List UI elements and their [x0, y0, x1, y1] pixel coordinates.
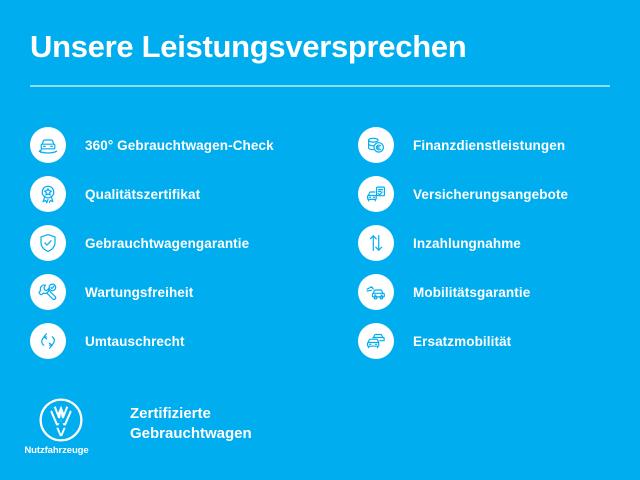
brand-tagline-line2: Gebrauchtwagen: [130, 424, 252, 444]
promo-slide: Unsere Leistungsversprechen 360° Gebrauc…: [0, 0, 640, 480]
page-title: Unsere Leistungsversprechen: [30, 29, 466, 65]
wrench-check-icon: [30, 274, 66, 310]
car-check-360-icon: [30, 127, 66, 163]
feature-label: Umtauschrecht: [85, 334, 185, 349]
feature-item: Umtauschrecht: [30, 317, 320, 365]
feature-label: Wartungsfreiheit: [85, 285, 193, 300]
feature-label: Ersatzmobilität: [413, 334, 511, 349]
feature-item: Wartungsfreiheit: [30, 268, 320, 316]
up-down-arrows-icon: [358, 225, 394, 261]
coins-euro-icon: [358, 127, 394, 163]
feature-label: Mobilitätsgarantie: [413, 285, 530, 300]
brand-tagline-line1: Zertifizierte: [130, 404, 252, 424]
two-cars-icon: [358, 323, 394, 359]
feature-item: Mobilitätsgarantie: [358, 268, 640, 316]
feature-label: 360° Gebrauchtwagen-Check: [85, 138, 274, 153]
brand-tagline: Zertifizierte Gebrauchtwagen: [130, 404, 252, 444]
feature-item: Inzahlungnahme: [358, 219, 640, 267]
car-document-check-icon: [358, 176, 394, 212]
exchange-arrows-icon: [30, 323, 66, 359]
feature-label: Inzahlungnahme: [413, 236, 521, 251]
feature-column-left: 360° Gebrauchtwagen-Check Qualitätszerti…: [30, 121, 320, 366]
feature-item: Qualitätszertifikat: [30, 170, 320, 218]
title-divider: [30, 85, 610, 87]
feature-item: Versicherungsangebote: [358, 170, 640, 218]
tow-truck-icon: [358, 274, 394, 310]
feature-item: Finanzdienstleistungen: [358, 121, 640, 169]
feature-label: Qualitätszertifikat: [85, 187, 200, 202]
shield-check-icon: [30, 225, 66, 261]
feature-column-right: Finanzdienstleistungen Versicherungsange…: [358, 121, 640, 366]
feature-item: Ersatzmobilität: [358, 317, 640, 365]
feature-item: Gebrauchtwagengarantie: [30, 219, 320, 267]
feature-label: Gebrauchtwagengarantie: [85, 236, 249, 251]
vw-roundel-logo: [39, 398, 83, 442]
brand-block: Nutzfahrzeuge Zertifizierte Gebrauchtwag…: [30, 398, 252, 456]
feature-item: 360° Gebrauchtwagen-Check: [30, 121, 320, 169]
feature-label: Finanzdienstleistungen: [413, 138, 565, 153]
feature-label: Versicherungsangebote: [413, 187, 568, 202]
vw-logo-group: Nutzfahrzeuge: [30, 398, 92, 456]
award-rosette-icon: [30, 176, 66, 212]
brand-sub-label: Nutzfahrzeuge: [21, 445, 92, 456]
